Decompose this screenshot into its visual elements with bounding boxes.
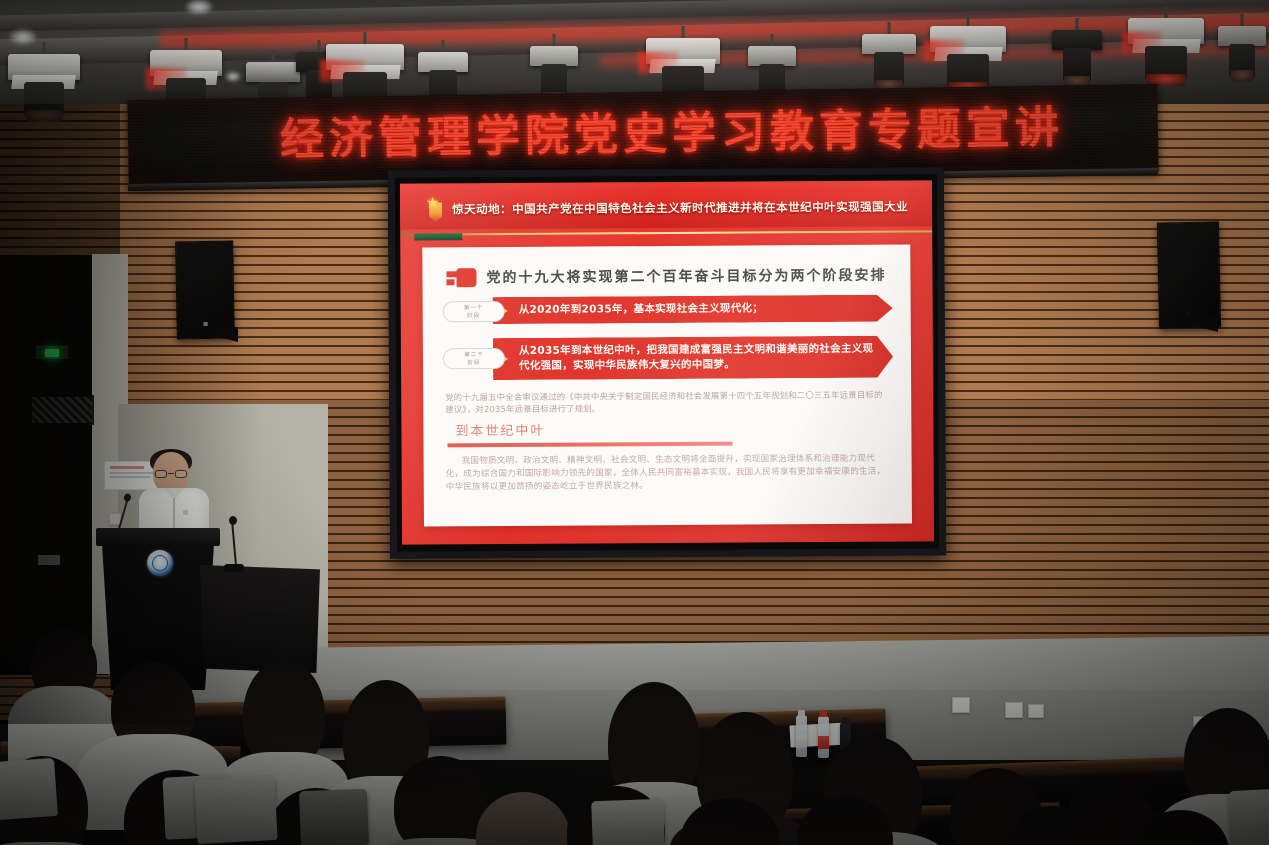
slide-subheading-underline (447, 442, 732, 448)
lecture-hall-photo: 经济管理学院党史学习教育专题宣讲 ★ 惊天动地：中国共产党在中国特色社会主义新时… (0, 0, 1269, 845)
stage-badge-2-line2: 阶段 (467, 359, 480, 367)
auditorium-seat (299, 789, 369, 845)
auditorium-seat (0, 758, 58, 820)
stage-badge-1-line2: 阶段 (467, 312, 480, 320)
wall-outlet-2 (1005, 702, 1023, 718)
wall-plate (38, 555, 60, 565)
stage-light-13 (1128, 6, 1204, 92)
wall-outlet-1 (952, 697, 970, 713)
audience-member (1126, 810, 1236, 845)
auditorium-seat (591, 799, 665, 845)
lectern-top (96, 528, 220, 546)
projection-screen: ★ 惊天动地：中国共产党在中国特色社会主义新时代推进并将在本世纪中叶实现强国大业… (388, 167, 946, 558)
university-emblem-icon (147, 550, 173, 576)
stage-badge-2-line1: 第二个 (464, 351, 484, 359)
stage-light-12 (1052, 18, 1102, 94)
audience-member (1000, 806, 1106, 845)
slide-heading-text: 党的十九大将实现第二个百年奋斗目标分为两个阶段安排 (486, 265, 886, 287)
stage-light-1 (8, 42, 80, 126)
wall-outlet-3 (1028, 704, 1044, 718)
pointing-hand-icon (446, 268, 476, 287)
stage-text-1: 从2020年到2035年，基本实现社会主义现代化； (519, 301, 877, 318)
presenter-glasses (155, 470, 187, 478)
slide-title-text: 惊天动地：中国共产党在中国特色社会主义新时代推进并将在本世纪中叶实现强国大业 (452, 199, 908, 218)
wall-vent-grille (30, 395, 94, 425)
left-speaker-led (204, 322, 208, 326)
wood-slat-wall-left-top (0, 104, 120, 264)
auditorium-seat (1229, 789, 1269, 845)
stage-light-14 (1218, 14, 1266, 88)
stage-badge-2: 第二个 阶段 (443, 348, 505, 369)
table-microphone (232, 520, 236, 572)
led-marquee-text: 经济管理学院党史学习教育专题宣讲 (279, 90, 1158, 168)
stage-side-table (200, 565, 320, 673)
slide-body-text: 我国物质文明、政治文明、精神文明、社会文明、生态文明将全面提升，实现国家治理体系… (446, 453, 890, 495)
exit-sign-glow (45, 349, 59, 357)
slide-content-card: 党的十九大将实现第二个百年奋斗目标分为两个阶段安排 第一个 阶段 从2020年到… (422, 245, 912, 527)
lamp-bulb-glow-b (186, 0, 212, 14)
slide-green-tab (414, 233, 462, 240)
audience-member (672, 798, 788, 845)
slide-title-bar: ★ 惊天动地：中国共产党在中国特色社会主义新时代推进并将在本世纪中叶实现强国大业 (400, 186, 932, 229)
slide-heading-row: 党的十九大将实现第二个百年奋斗目标分为两个阶段安排 (446, 265, 892, 288)
auditorium-seat (194, 776, 277, 844)
party-star-emblem-icon: ★ (422, 193, 452, 225)
presenter-badge (183, 510, 188, 515)
stage-text-2: 从2035年到本世纪中叶，把我国建成富强民主文明和谐美丽的社会主义现代化强国，实… (519, 342, 877, 374)
lamp-bulb-glow-c (226, 72, 240, 81)
stage-badge-1: 第一个 阶段 (443, 301, 505, 322)
slide-gold-divider (400, 230, 932, 235)
audience-member (790, 796, 900, 845)
stage-badge-1-line1: 第一个 (464, 304, 484, 312)
emergency-exit-sign (36, 346, 68, 359)
stage-ribbon-1: 从2020年到2035年，基本实现社会主义现代化； (493, 295, 893, 324)
slide-stage-row-1: 第一个 阶段 从2020年到2035年，基本实现社会主义现代化； (441, 295, 893, 325)
slide-stage-row-2: 第二个 阶段 从2035年到本世纪中叶，把我国建成富强民主文明和谐美丽的社会主义… (441, 336, 893, 381)
presentation-slide: ★ 惊天动地：中国共产党在中国特色社会主义新时代推进并将在本世纪中叶实现强国大业… (400, 180, 934, 544)
slide-note-text: 党的十九届五中全会审议通过的《中共中央关于制定国民经济和社会发展第十四个五年规划… (445, 389, 889, 416)
slide-subheading-text: 到本世纪中叶 (455, 418, 893, 440)
stage-ribbon-2: 从2035年到本世纪中叶，把我国建成富强民主文明和谐美丽的社会主义现代化强国，实… (493, 336, 893, 380)
